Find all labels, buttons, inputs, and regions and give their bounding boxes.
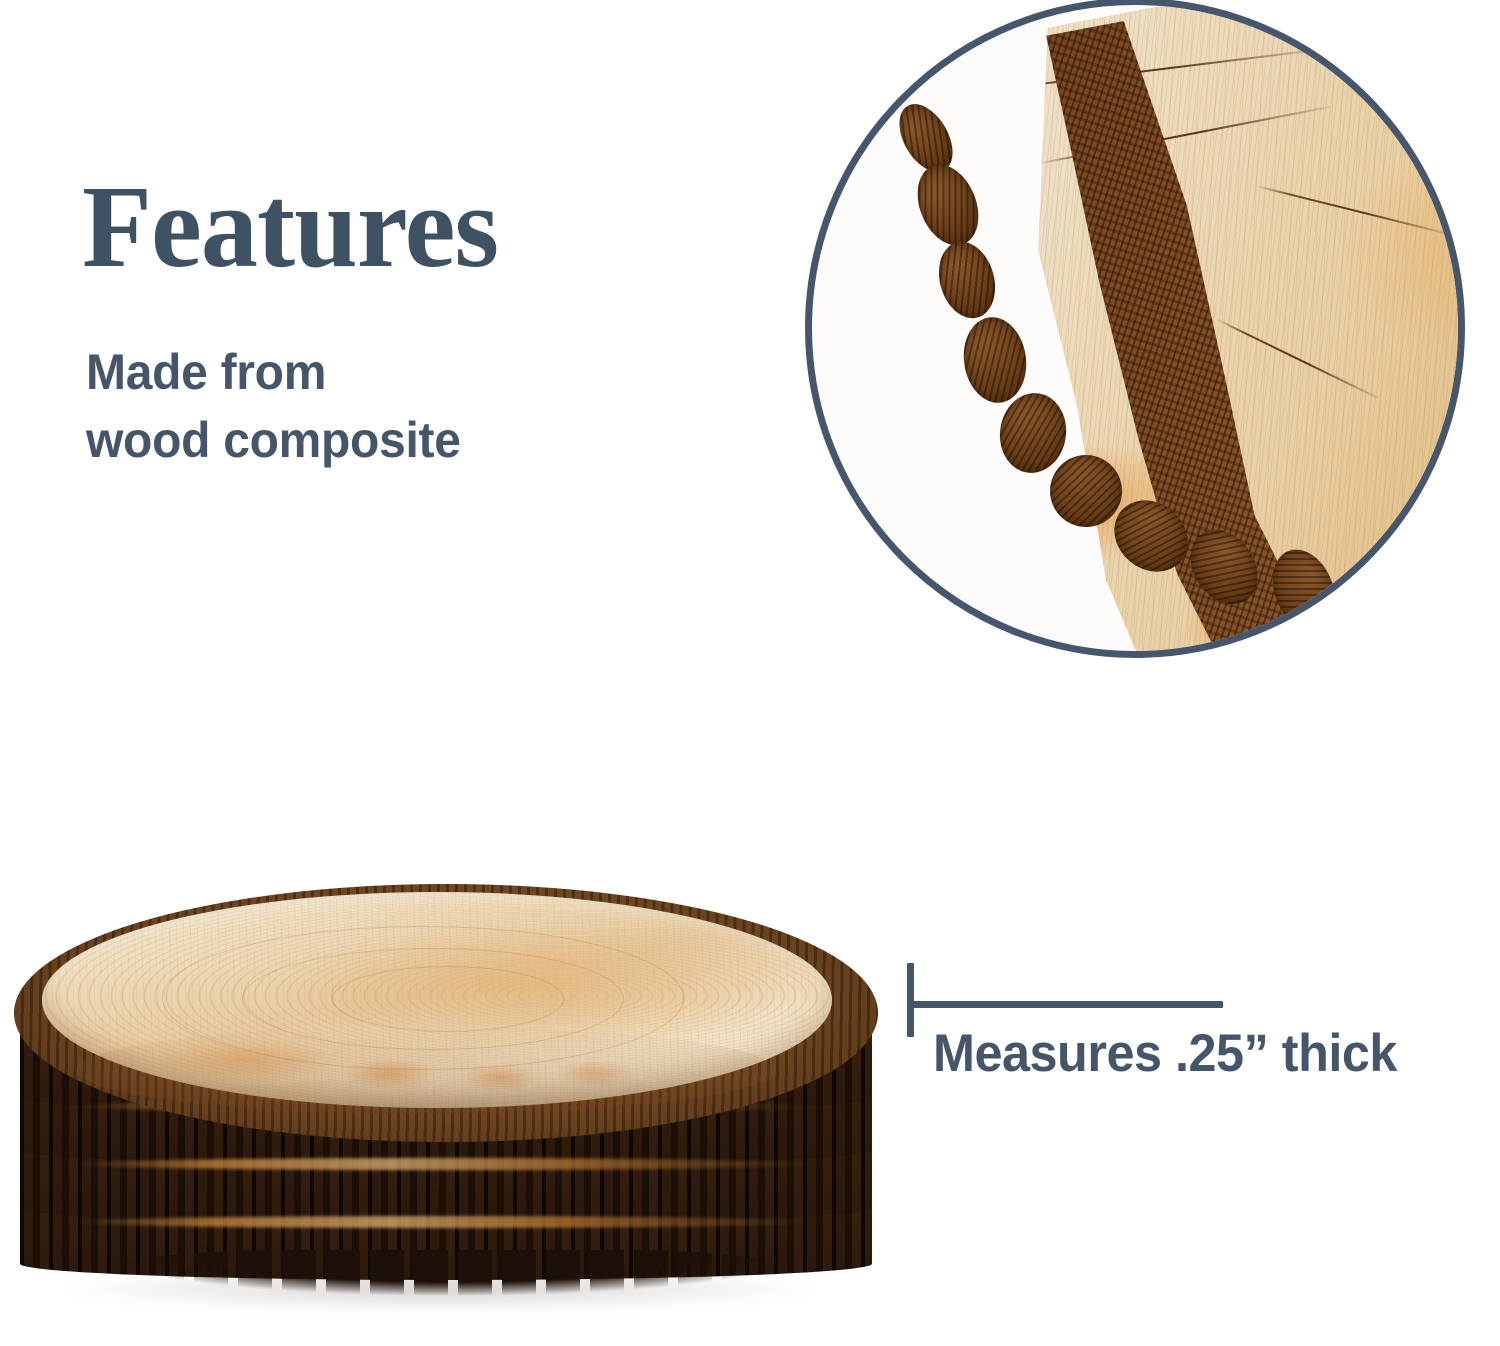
inset-bark-lobe: [906, 156, 989, 255]
features-subtitle-line-1: Made from: [86, 338, 461, 406]
features-subtitle: Made from wood composite: [86, 338, 461, 474]
inset-grain-crack: [1216, 318, 1379, 399]
coaster-bark-scallops: [106, 1250, 796, 1296]
inset-grain-crack: [991, 49, 1319, 91]
infographic-canvas: Features Made from wood composite: [0, 0, 1500, 1346]
growth-ring: [332, 966, 564, 1032]
features-subtitle-line-2: wood composite: [86, 406, 461, 474]
face-edge-shading: [76, 1026, 776, 1114]
inset-bark-lobe: [958, 313, 1031, 407]
dimension-tick-mark: [907, 963, 914, 1037]
coaster-top-wood-face: [42, 892, 832, 1108]
product-photo-coaster-stack: [6, 876, 886, 1336]
inset-bark-lobe: [930, 235, 1003, 325]
layer-seam-highlight: [76, 1216, 816, 1228]
dimension-leader-line: [911, 1001, 1223, 1008]
page-title: Features: [82, 168, 498, 286]
measurement-label: Measures .25” thick: [933, 1027, 1397, 1080]
inset-grain-crack: [1256, 185, 1451, 235]
magnifier-circle-inset: [805, 0, 1465, 658]
inset-bark-lobe: [995, 389, 1071, 477]
layer-seam-highlight: [76, 1158, 816, 1170]
